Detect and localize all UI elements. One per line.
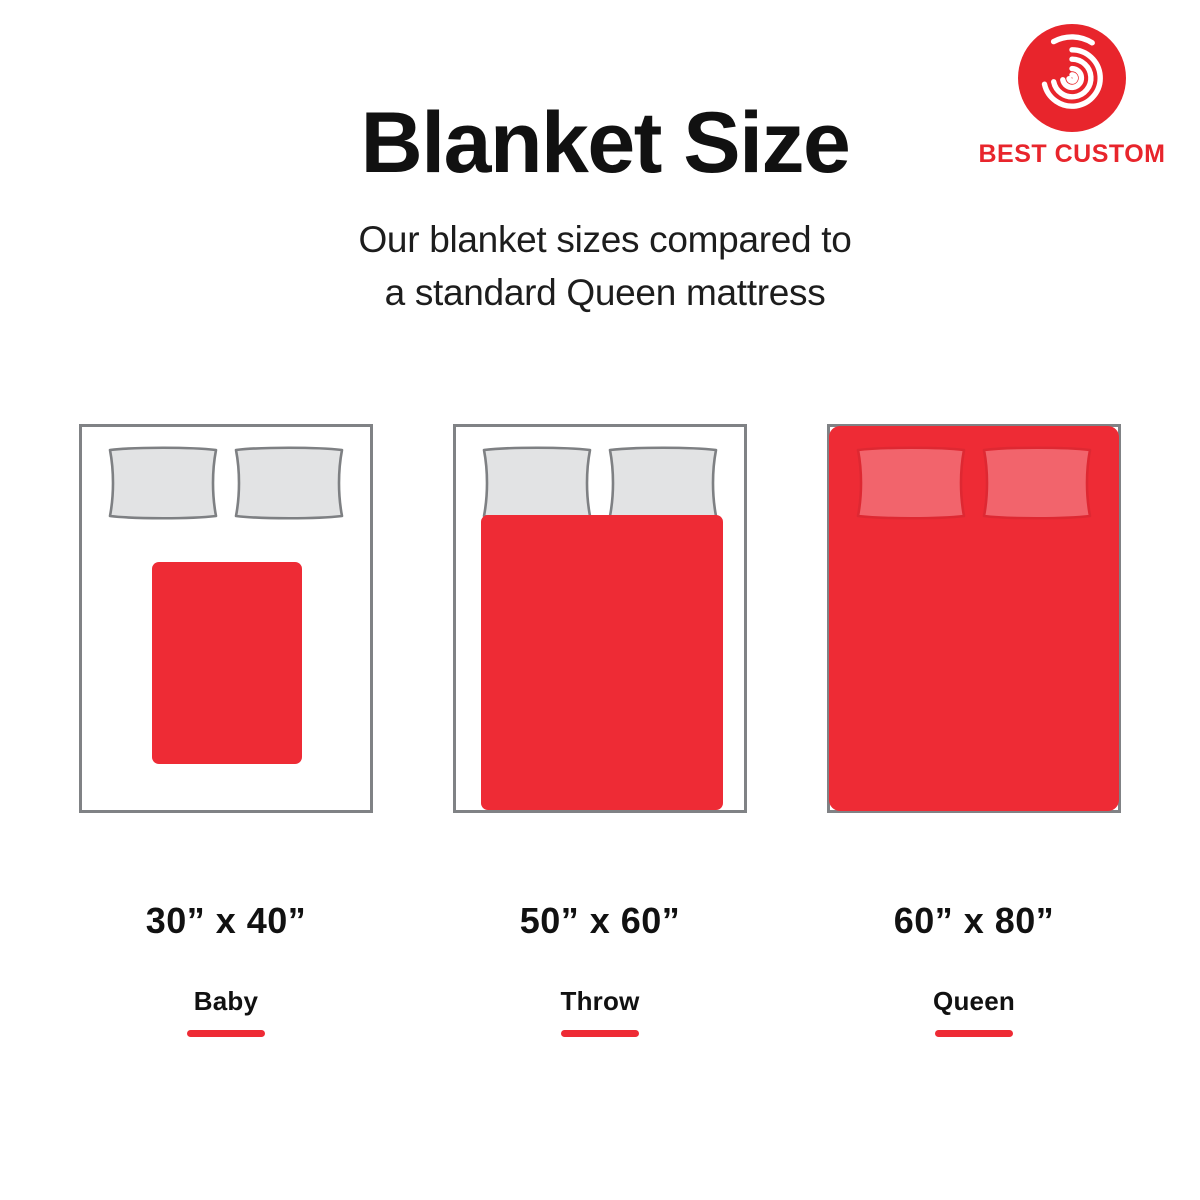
subtitle-line-2: a standard Queen mattress	[10, 267, 1200, 320]
pillow-icon	[231, 446, 347, 520]
mattress-outline	[79, 424, 373, 813]
pillow-icon	[605, 446, 721, 520]
pillow-icon	[979, 446, 1095, 520]
dimension-label: 50” x 60”	[453, 900, 747, 942]
blanket-throw	[481, 515, 723, 810]
size-name-label: Queen	[827, 986, 1121, 1017]
caption-baby: 30” x 40” Baby	[79, 900, 373, 1037]
page-subtitle: Our blanket sizes compared to a standard…	[0, 214, 1200, 319]
accent-underline	[935, 1030, 1013, 1037]
caption-throw: 50” x 60” Throw	[453, 900, 747, 1037]
bed-diagram-throw	[453, 424, 747, 813]
mattress-outline	[453, 424, 747, 813]
size-captions: 30” x 40” Baby 50” x 60” Throw 60” x 80”…	[0, 900, 1200, 1060]
pillow-icon	[105, 446, 221, 520]
dimension-label: 30” x 40”	[79, 900, 373, 942]
header: Blanket Size Our blanket sizes compared …	[0, 100, 1200, 319]
accent-underline	[561, 1030, 639, 1037]
bed-diagram-baby	[79, 424, 373, 813]
page-title: Blanket Size	[0, 100, 1200, 186]
blanket-baby	[152, 562, 302, 764]
subtitle-line-1: Our blanket sizes compared to	[10, 214, 1200, 267]
caption-queen: 60” x 80” Queen	[827, 900, 1121, 1037]
pillow-icon	[853, 446, 969, 520]
pillow-icon	[479, 446, 595, 520]
bed-diagram-queen	[827, 424, 1121, 813]
size-name-label: Throw	[453, 986, 747, 1017]
size-name-label: Baby	[79, 986, 373, 1017]
blanket-queen	[829, 426, 1119, 811]
bed-comparison-diagrams	[0, 424, 1200, 824]
dimension-label: 60” x 80”	[827, 900, 1121, 942]
mattress-outline	[827, 424, 1121, 813]
accent-underline	[187, 1030, 265, 1037]
